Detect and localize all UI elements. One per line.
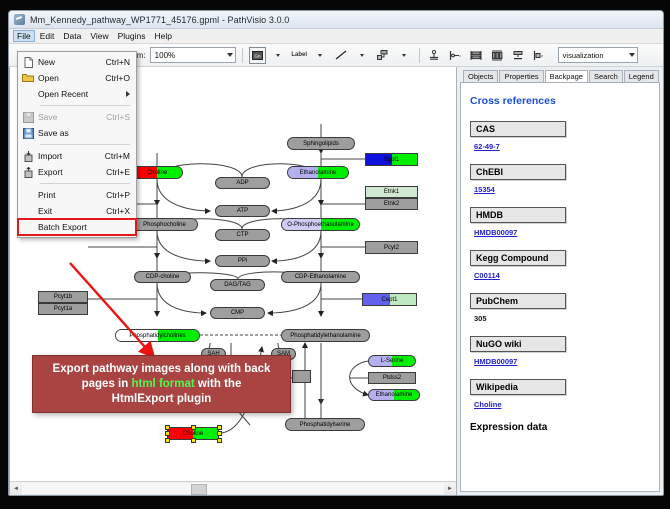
scroll-left-icon[interactable]: ◄ xyxy=(10,483,22,494)
pathway-node-ethanolamine-bottom[interactable]: Ethanolamine xyxy=(368,389,420,401)
backpage-content: Cross references CAS62-49-7ChEBI15354HMD… xyxy=(460,82,660,492)
pathway-node-adp[interactable]: ADP xyxy=(215,177,270,189)
stack-vertical-icon[interactable] xyxy=(468,47,485,64)
pathway-node-phosphatidylserine[interactable]: Phosphatidylserine xyxy=(285,418,365,431)
import-icon xyxy=(18,151,38,162)
save-as-icon xyxy=(18,128,38,139)
export-icon xyxy=(18,167,38,178)
callout-text: Export pathway images along with back pa… xyxy=(45,362,279,407)
file-menu-item-batch-export[interactable]: Batch Export xyxy=(18,219,136,235)
file-menu-item-label: Exit xyxy=(38,206,106,216)
file-menu-item-label: Export xyxy=(38,167,106,177)
file-menu-item-print[interactable]: PrintCtrl+P xyxy=(18,187,136,203)
interaction-dropdown-icon[interactable] xyxy=(396,47,413,64)
interaction-tool-icon[interactable] xyxy=(375,47,392,64)
pathway-node-label: Pcyt1a xyxy=(54,306,72,312)
label-tool-icon[interactable]: Label xyxy=(291,47,308,64)
selection-handle[interactable] xyxy=(217,438,222,443)
xref-label-chebi: ChEBI xyxy=(470,164,566,180)
open-folder-icon xyxy=(18,73,38,83)
pathway-node-ptdss2[interactable]: Ptdss2 xyxy=(368,372,416,384)
callout-line-2b: with the xyxy=(195,378,242,390)
svg-text:Gn: Gn xyxy=(254,53,261,58)
datanode-dropdown-icon[interactable] xyxy=(270,47,287,64)
file-menu-item-accelerator: Ctrl+N xyxy=(106,57,136,67)
toolbar-divider xyxy=(242,48,243,63)
file-menu-item-save-as[interactable]: Save as xyxy=(18,125,136,141)
chevron-down-icon xyxy=(402,54,406,57)
pathway-node-o-phosphoethanolamine[interactable]: O-Phosphoethanolamine xyxy=(281,218,360,231)
pathway-node-phosphocholine[interactable]: Phosphocholine xyxy=(131,218,198,231)
selection-handle[interactable] xyxy=(165,438,170,443)
pathway-node-choline-top[interactable]: Choline xyxy=(131,166,183,179)
same-size-icon[interactable] xyxy=(510,47,527,64)
line-tool-icon[interactable] xyxy=(333,47,350,64)
chevron-right-icon xyxy=(126,91,130,97)
file-menu-item-accelerator: Ctrl+X xyxy=(106,206,136,216)
pathway-node-label: Pcyt2 xyxy=(384,245,399,251)
align-right-icon[interactable]: o xyxy=(531,47,548,64)
screenshot-root: Mm_Kennedy_pathway_WP1771_45176.gpml - P… xyxy=(0,0,670,509)
file-menu-item-accelerator: Ctrl+E xyxy=(106,167,136,177)
pathway-node-pcyt1a[interactable]: Pcyt1a xyxy=(38,303,88,315)
svg-text:o: o xyxy=(460,54,462,58)
cross-reference-list: CAS62-49-7ChEBI15354HMDBHMDB00097Kegg Co… xyxy=(470,121,650,409)
pathway-node-phosphatidylethanolamine[interactable]: Phosphatidylethanolamine xyxy=(281,329,370,342)
xref-label-cas: CAS xyxy=(470,121,566,137)
chevron-down-icon xyxy=(227,53,233,57)
pathway-node-ethanolamine-top[interactable]: Ethanolamine xyxy=(287,166,349,179)
canvas-horizontal-scrollbar[interactable]: ◄ ► xyxy=(10,481,456,495)
pathway-node-cept1[interactable]: Cept1 xyxy=(362,293,417,306)
xref-value-cas[interactable]: 62-49-7 xyxy=(474,142,650,151)
file-menu-item-label: Save xyxy=(38,112,106,122)
pathway-node-phosphatidylcholines[interactable]: Phosphatidylcholines xyxy=(115,329,200,342)
pathway-node-sgpl1[interactable]: Sgpl1 xyxy=(365,153,418,166)
pathway-node-label: CDP-choline xyxy=(146,274,180,280)
label-dropdown-icon[interactable] xyxy=(312,47,329,64)
file-menu-item-open-recent[interactable]: Open Recent xyxy=(18,86,136,102)
zoom-combo[interactable]: 100% xyxy=(150,47,236,63)
save-icon xyxy=(18,112,38,123)
xref-value-wikipedia[interactable]: Choline xyxy=(474,400,650,409)
file-menu-dropdown[interactable]: NewCtrl+NOpenCtrl+OOpen RecentSaveCtrl+S… xyxy=(17,51,137,238)
menu-file[interactable]: File xyxy=(13,30,35,42)
selection-handle[interactable] xyxy=(165,425,170,430)
pathway-node-label: Sgpl1 xyxy=(384,157,399,163)
pathway-node-label: Choline xyxy=(147,170,167,176)
pathway-node-cmp[interactable]: CMP xyxy=(210,307,265,319)
pathway-node-label: Phosphatidylcholines xyxy=(129,333,185,339)
align-left-icon[interactable]: o xyxy=(447,47,464,64)
side-panel-tabs: Objects Properties Backpage Search Legen… xyxy=(460,67,663,82)
line-dropdown-icon[interactable] xyxy=(354,47,371,64)
pathway-node-pcyt2[interactable]: Pcyt2 xyxy=(365,241,418,254)
window-title: Mm_Kennedy_pathway_WP1771_45176.gpml - P… xyxy=(30,15,289,25)
tab-legend[interactable]: Legend xyxy=(624,70,659,82)
file-menu-item-accelerator: Ctrl+O xyxy=(105,73,136,83)
pathway-node-label: L-Serine xyxy=(381,358,404,364)
file-menu-item-accelerator: Ctrl+P xyxy=(106,190,136,200)
file-menu-item-import[interactable]: ImportCtrl+M xyxy=(18,148,136,164)
pathway-node-label: Etnk1 xyxy=(384,189,399,195)
callout-line-1: Export pathway images along with back xyxy=(53,363,271,375)
chevron-down-icon xyxy=(360,54,364,57)
pathway-node-label: Ptdss2 xyxy=(383,375,401,381)
pathway-node-label: Choline xyxy=(183,431,203,437)
menu-plugins[interactable]: Plugins xyxy=(114,30,150,42)
pathway-node-label: Cept1 xyxy=(381,297,397,303)
scroll-track[interactable] xyxy=(22,483,444,494)
menu-separator xyxy=(40,105,130,106)
pathway-node-ctp[interactable]: CTP xyxy=(215,229,270,241)
file-menu-item-label: Import xyxy=(38,151,105,161)
pathway-node-label: O-Phosphoethanolamine xyxy=(287,222,353,228)
side-panel: Objects Properties Backpage Search Legen… xyxy=(457,67,663,496)
tab-search[interactable]: Search xyxy=(589,70,623,82)
xref-value-kegg-compound[interactable]: C00114 xyxy=(474,271,650,280)
visualization-combo[interactable]: visualization xyxy=(558,47,638,63)
pathway-node-label: Phosphatidylserine xyxy=(300,422,351,428)
file-menu-item-label: New xyxy=(38,57,106,67)
xref-label-hmdb: HMDB xyxy=(470,207,566,223)
pathway-node-ppi[interactable]: PPi xyxy=(215,255,270,267)
svg-text:o: o xyxy=(541,54,543,58)
menu-bar: File Edit Data View Plugins Help xyxy=(9,29,663,44)
file-menu-item-exit[interactable]: ExitCtrl+X xyxy=(18,203,136,219)
selection-handle[interactable] xyxy=(191,438,196,443)
visualization-value: visualization xyxy=(563,51,604,60)
file-menu-item-label: Batch Export xyxy=(38,222,130,232)
tab-properties[interactable]: Properties xyxy=(499,70,543,82)
menu-view[interactable]: View xyxy=(86,30,112,42)
file-menu-item-save: SaveCtrl+S xyxy=(18,109,136,125)
file-menu-item-export[interactable]: ExportCtrl+E xyxy=(18,164,136,180)
chevron-down-icon xyxy=(629,53,635,57)
xref-label-nugo-wiki: NuGO wiki xyxy=(470,336,566,352)
pathway-node-pcyt1b[interactable]: Pcyt1b xyxy=(38,291,88,303)
callout-box: Export pathway images along with back pa… xyxy=(32,355,291,413)
xref-value-pubchem: 305 xyxy=(474,314,650,323)
expression-data-heading: Expression data xyxy=(470,422,650,433)
pathway-node-label: Phosphocholine xyxy=(143,222,186,228)
pathway-node-sphingolipids[interactable]: Sphingolipids xyxy=(287,137,355,150)
pathway-node-label: Ethanolamine xyxy=(300,170,337,176)
pathway-node-cdp-choline[interactable]: CDP-choline xyxy=(134,271,191,283)
file-menu-item-accelerator: Ctrl+S xyxy=(106,112,136,122)
scroll-thumb[interactable] xyxy=(191,484,207,495)
file-menu-item-label: Print xyxy=(38,190,106,200)
xref-label-wikipedia: Wikipedia xyxy=(470,379,566,395)
xref-label-pubchem: PubChem xyxy=(470,293,566,309)
pathway-node-etnk1[interactable]: Etnk1 xyxy=(365,186,418,198)
menu-data[interactable]: Data xyxy=(59,30,85,42)
cross-references-heading: Cross references xyxy=(470,95,650,107)
scroll-right-icon[interactable]: ► xyxy=(444,483,456,494)
pathway-node-label: PPi xyxy=(238,258,247,264)
menu-separator xyxy=(40,183,130,184)
file-menu-item-label: Open Recent xyxy=(38,89,126,99)
menu-help[interactable]: Help xyxy=(151,30,176,42)
pathway-node-dag-tag[interactable]: DAG/TAG xyxy=(210,279,265,291)
pathway-node-label: CDP-Ethanolamine xyxy=(295,274,346,280)
xref-value-nugo-wiki[interactable]: HMDB00097 xyxy=(474,357,650,366)
distribute-icon[interactable] xyxy=(489,47,506,64)
selection-handle[interactable] xyxy=(165,431,170,436)
pathway-node-label: Pcyt1b xyxy=(54,294,72,300)
file-menu-item-new[interactable]: NewCtrl+N xyxy=(18,54,136,70)
selection-handle[interactable] xyxy=(191,425,196,430)
callout-line-2a: pages in xyxy=(82,378,132,390)
tab-objects[interactable]: Objects xyxy=(463,70,498,82)
chevron-down-icon xyxy=(318,54,322,57)
pathway-node-label: Etnk2 xyxy=(384,201,399,207)
pathway-node-l-serine[interactable]: L-Serine xyxy=(368,355,416,367)
file-menu-item-label: Open xyxy=(38,73,105,83)
title-bar: Mm_Kennedy_pathway_WP1771_45176.gpml - P… xyxy=(9,11,663,29)
zoom-value: 100% xyxy=(155,51,175,60)
callout-highlight: html format xyxy=(131,378,194,390)
pathway-node-atp[interactable]: ATP xyxy=(215,205,270,217)
callout-line-3: HtmlExport plugin xyxy=(112,393,212,405)
pathway-node-label: Phosphatidylethanolamine xyxy=(290,333,360,339)
align-top-icon[interactable] xyxy=(426,47,443,64)
pathway-node-label: DAG/TAG xyxy=(224,282,251,288)
xref-label-kegg-compound: Kegg Compound xyxy=(470,250,566,266)
pathway-node-label: ATP xyxy=(237,208,248,214)
menu-edit[interactable]: Edit xyxy=(36,30,59,42)
pathway-node-etnk2[interactable]: Etnk2 xyxy=(365,198,418,210)
pathway-node-unnamed-gene[interactable] xyxy=(292,370,311,383)
toolbar-divider-2 xyxy=(419,48,420,63)
selection-handle[interactable] xyxy=(217,431,222,436)
pathway-node-label: Sphingolipids xyxy=(303,141,339,147)
datanode-tool-icon[interactable]: Gn xyxy=(249,47,266,64)
menu-separator xyxy=(40,144,130,145)
file-menu-item-label: Save as xyxy=(38,128,130,138)
selection-handle[interactable] xyxy=(217,425,222,430)
pathway-node-label: Ethanolamine xyxy=(376,392,413,398)
pathvisio-icon xyxy=(14,14,25,25)
pathway-node-label: CTP xyxy=(237,232,249,238)
file-menu-item-open[interactable]: OpenCtrl+O xyxy=(18,70,136,86)
pathway-node-label: CMP xyxy=(231,310,244,316)
new-file-icon xyxy=(18,57,38,68)
pathway-node-cdp-ethanolamine[interactable]: CDP-Ethanolamine xyxy=(281,271,360,283)
chevron-down-icon xyxy=(276,54,280,57)
xref-value-hmdb[interactable]: HMDB00097 xyxy=(474,228,650,237)
file-menu-item-accelerator: Ctrl+M xyxy=(105,151,136,161)
application-window: Mm_Kennedy_pathway_WP1771_45176.gpml - P… xyxy=(8,10,664,496)
pathway-node-label: ADP xyxy=(236,180,248,186)
xref-value-chebi[interactable]: 15354 xyxy=(474,185,650,194)
